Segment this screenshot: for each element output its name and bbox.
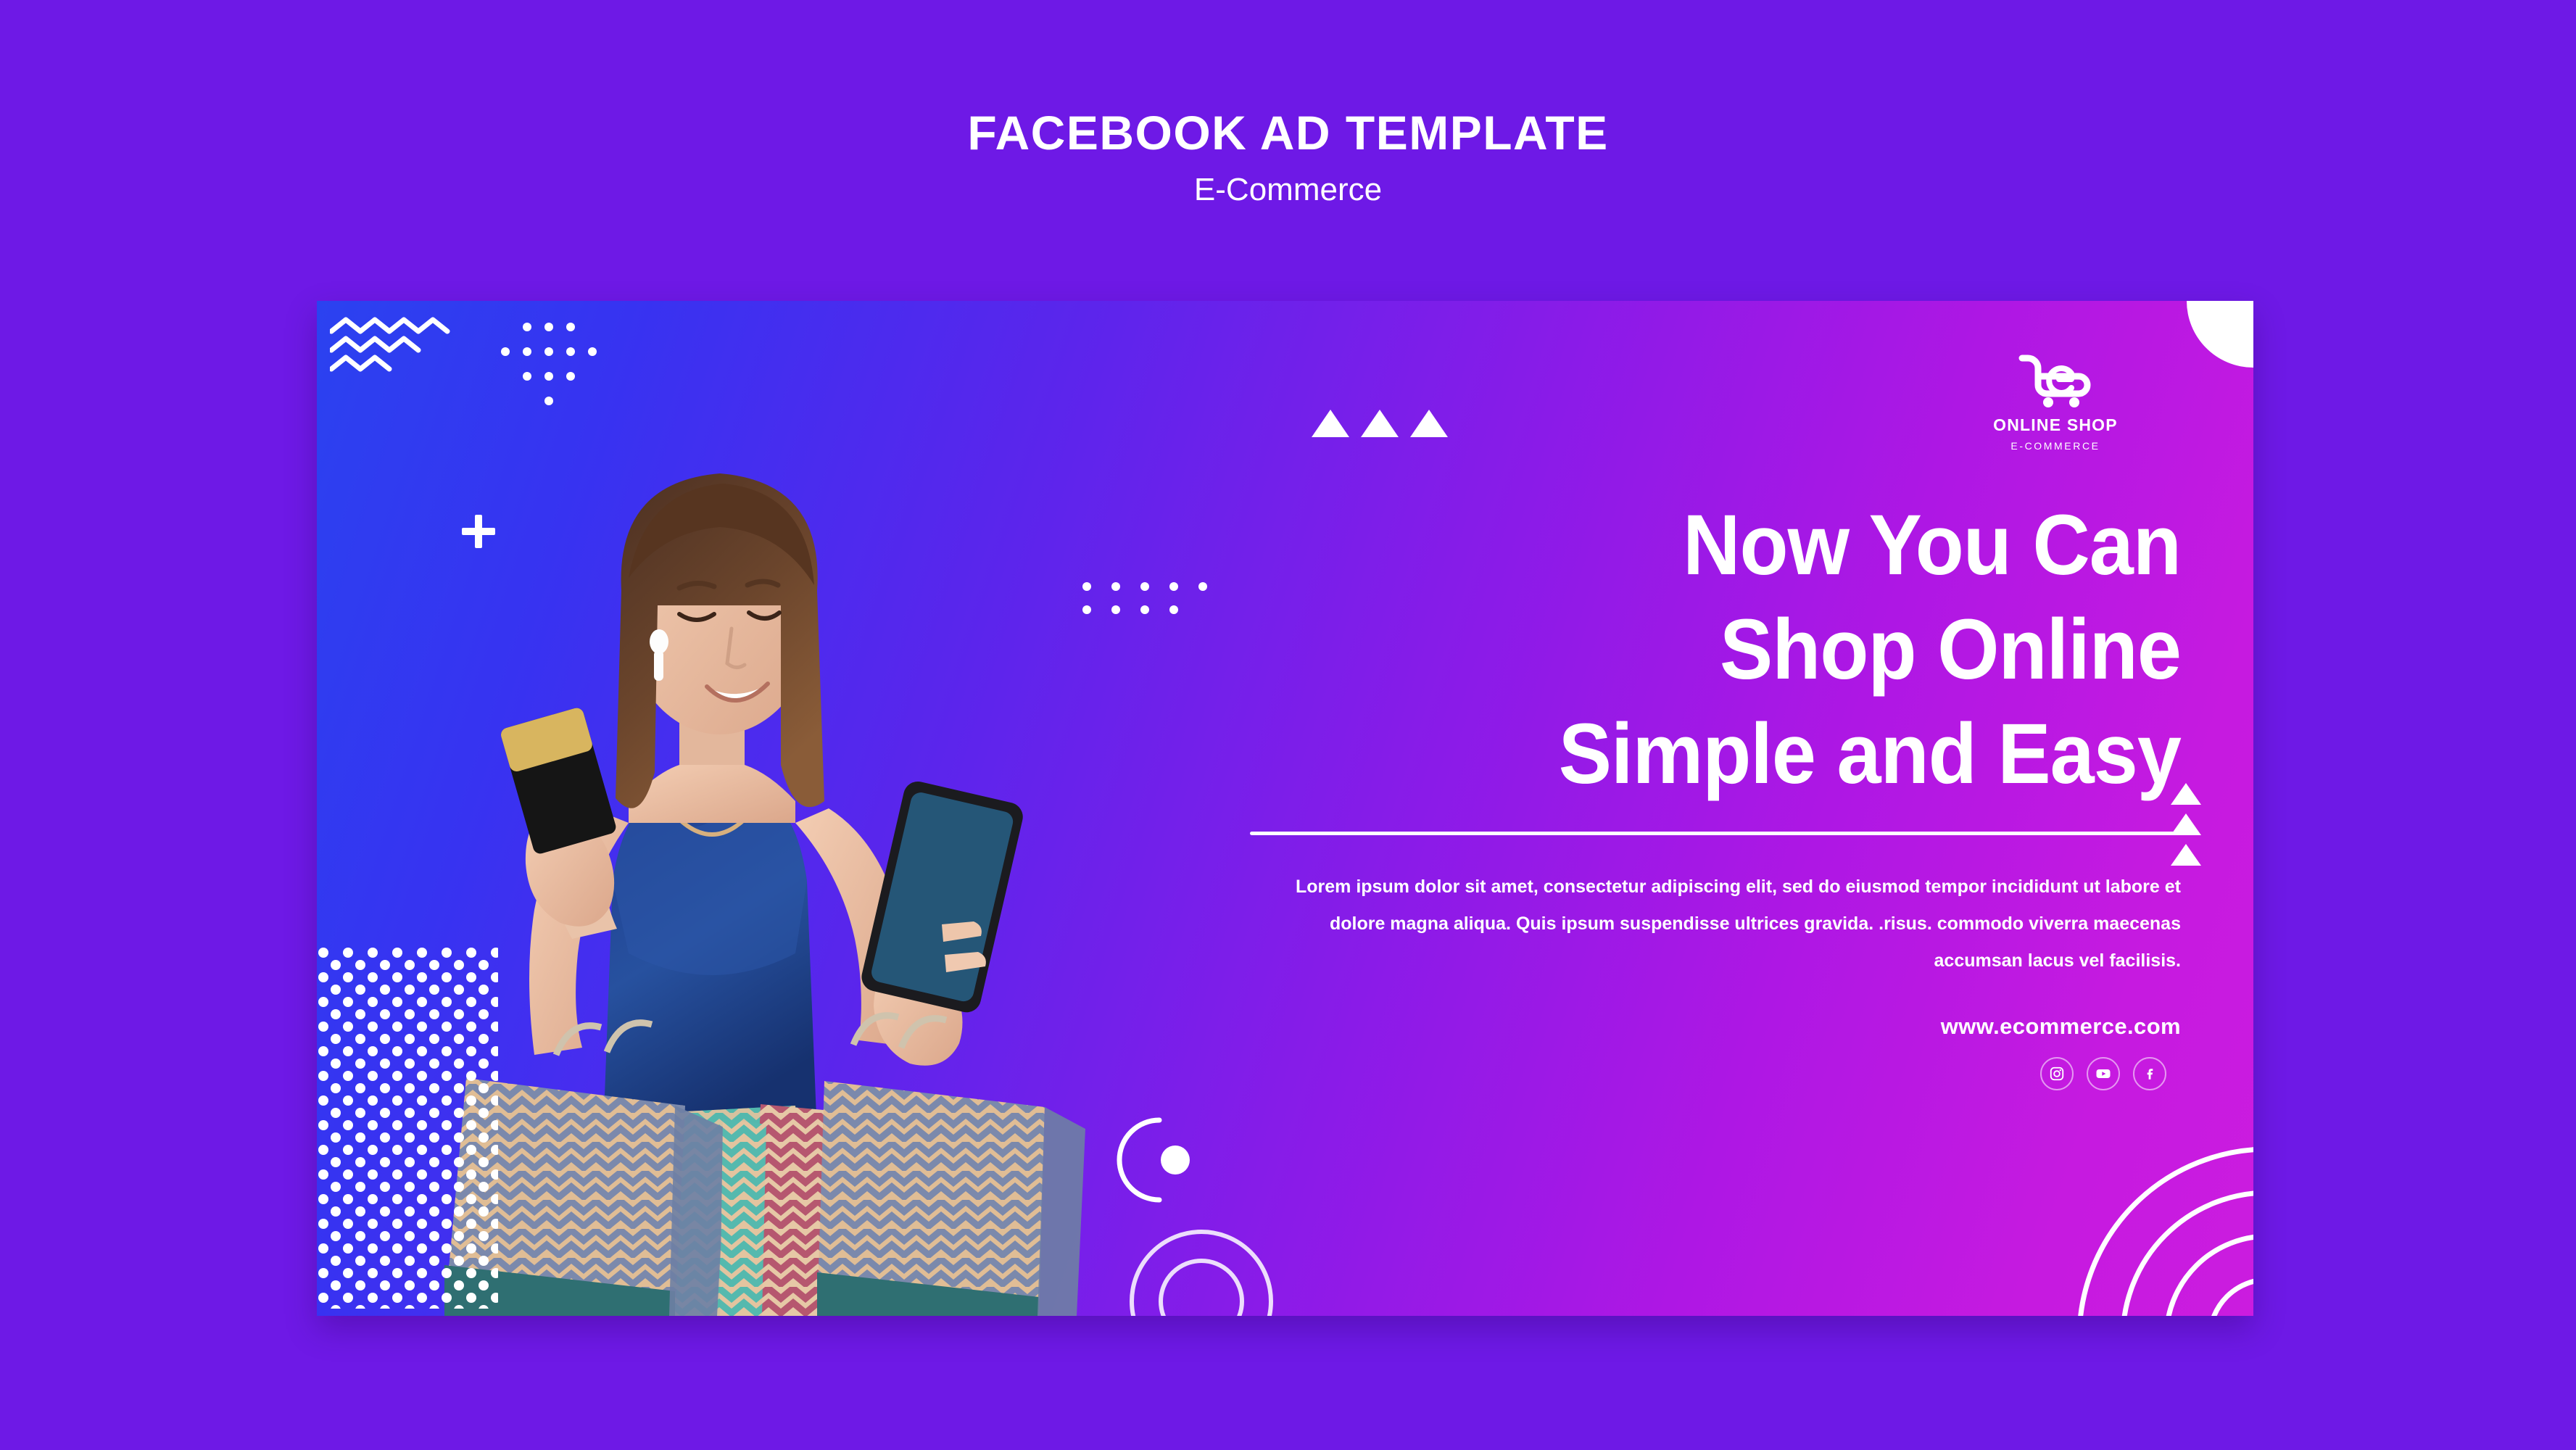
zigzag-lines-icon xyxy=(330,317,489,389)
divider xyxy=(1250,832,2181,835)
website-url[interactable]: www.ecommerce.com xyxy=(1166,1014,2181,1040)
body-copy-line-2: dolore magna aliqua. Quis ipsum suspendi… xyxy=(1209,906,2181,942)
headline-line-2: Shop Online xyxy=(1237,598,2181,703)
instagram-glyph xyxy=(2049,1066,2065,1082)
brand-logo[interactable]: ONLINE SHOP E-COMMERCE xyxy=(1972,352,2139,452)
body-copy-line-1: Lorem ipsum dolor sit amet, consectetur … xyxy=(1209,869,2181,906)
page-title: FACEBOOK AD TEMPLATE xyxy=(0,109,2576,157)
facebook-glyph xyxy=(2142,1066,2158,1082)
youtube-glyph xyxy=(2095,1065,2112,1082)
page-header: FACEBOOK AD TEMPLATE E-Commerce xyxy=(0,109,2576,206)
brand-name: ONLINE SHOP xyxy=(1993,415,2118,435)
social-links xyxy=(1166,1057,2166,1090)
instagram-icon[interactable] xyxy=(2040,1057,2074,1090)
concentric-rings-icon xyxy=(1100,1193,1303,1316)
headline-line-3: Simple and Easy xyxy=(1237,703,2181,807)
brand-tagline: E-COMMERCE xyxy=(2010,440,2100,452)
corner-arcs-icon xyxy=(2036,1106,2253,1316)
ad-banner: ONLINE SHOP E-COMMERCE Now You Can Shop … xyxy=(317,301,2253,1316)
facebook-icon[interactable] xyxy=(2133,1057,2166,1090)
dot-diamond-cluster-icon xyxy=(484,315,621,453)
page-subtitle: E-Commerce xyxy=(0,174,2576,206)
body-copy-line-3: accumsan lacus vel facilisis. xyxy=(1209,942,2181,979)
shopping-cart-e-icon xyxy=(2016,352,2095,408)
youtube-icon[interactable] xyxy=(2087,1057,2120,1090)
dot-grid-icon xyxy=(317,946,498,1309)
headline-line-1: Now You Can xyxy=(1237,494,2181,598)
headline: Now You Can Shop Online Simple and Easy xyxy=(1166,494,2181,807)
plus-mark-icon xyxy=(462,515,495,548)
banner-content: ONLINE SHOP E-COMMERCE Now You Can Shop … xyxy=(1166,352,2181,1090)
corner-notch xyxy=(2187,301,2253,368)
body-copy: Lorem ipsum dolor sit amet, consectetur … xyxy=(1209,869,2181,980)
